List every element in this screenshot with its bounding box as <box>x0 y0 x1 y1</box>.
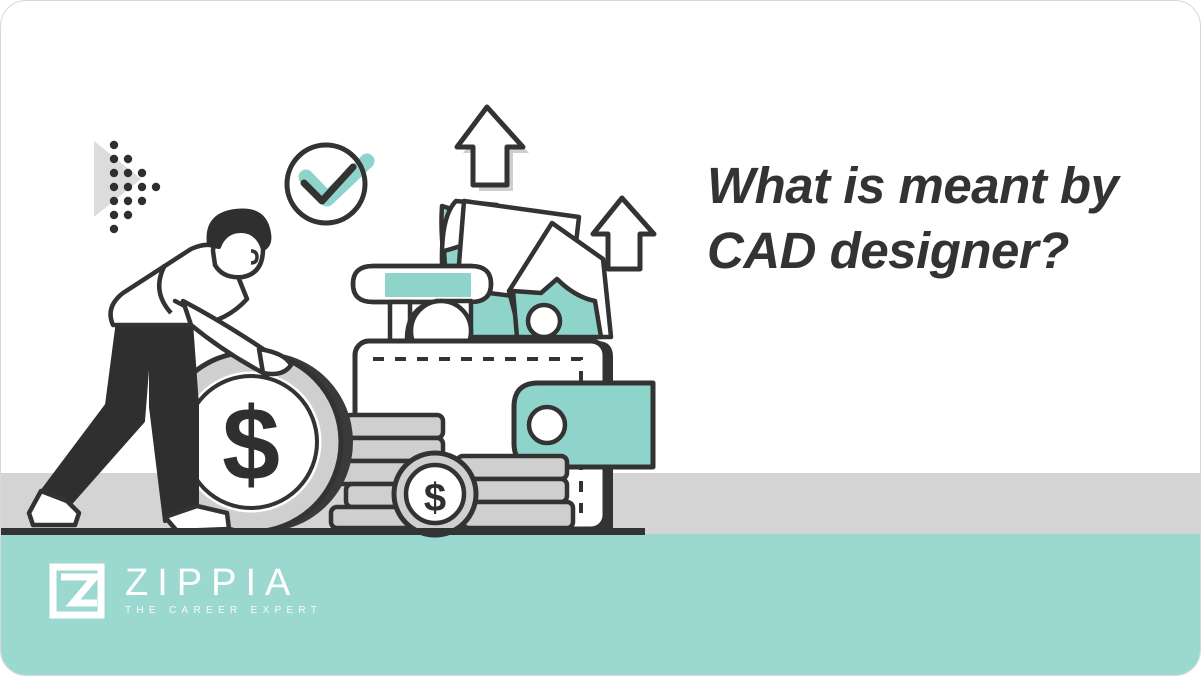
zippia-logo-mark-icon <box>49 563 105 619</box>
page-title-line-2: CAD designer? <box>707 218 1177 283</box>
zippia-logo[interactable]: ZIPPIA THE CAREER EXPERT <box>49 563 322 619</box>
svg-text:$: $ <box>222 387 280 503</box>
banknotes <box>353 201 611 361</box>
page-title-line-1: What is meant by <box>707 153 1177 218</box>
article-hero-card: $ $ <box>0 0 1201 676</box>
zippia-logo-text: ZIPPIA THE CAREER EXPERT <box>125 563 322 619</box>
check-circle-icon <box>287 145 367 223</box>
page-title: What is meant by CAD designer? <box>707 153 1177 283</box>
zippia-logo-tagline: THE CAREER EXPERT <box>125 603 322 619</box>
dot-arrow-icon <box>94 141 160 233</box>
ground-line <box>1 528 645 535</box>
zippia-logo-name: ZIPPIA <box>125 563 322 603</box>
dollar-coin-small: $ <box>394 453 476 535</box>
up-arrow-large-icon <box>457 107 529 191</box>
svg-text:$: $ <box>424 476 446 520</box>
